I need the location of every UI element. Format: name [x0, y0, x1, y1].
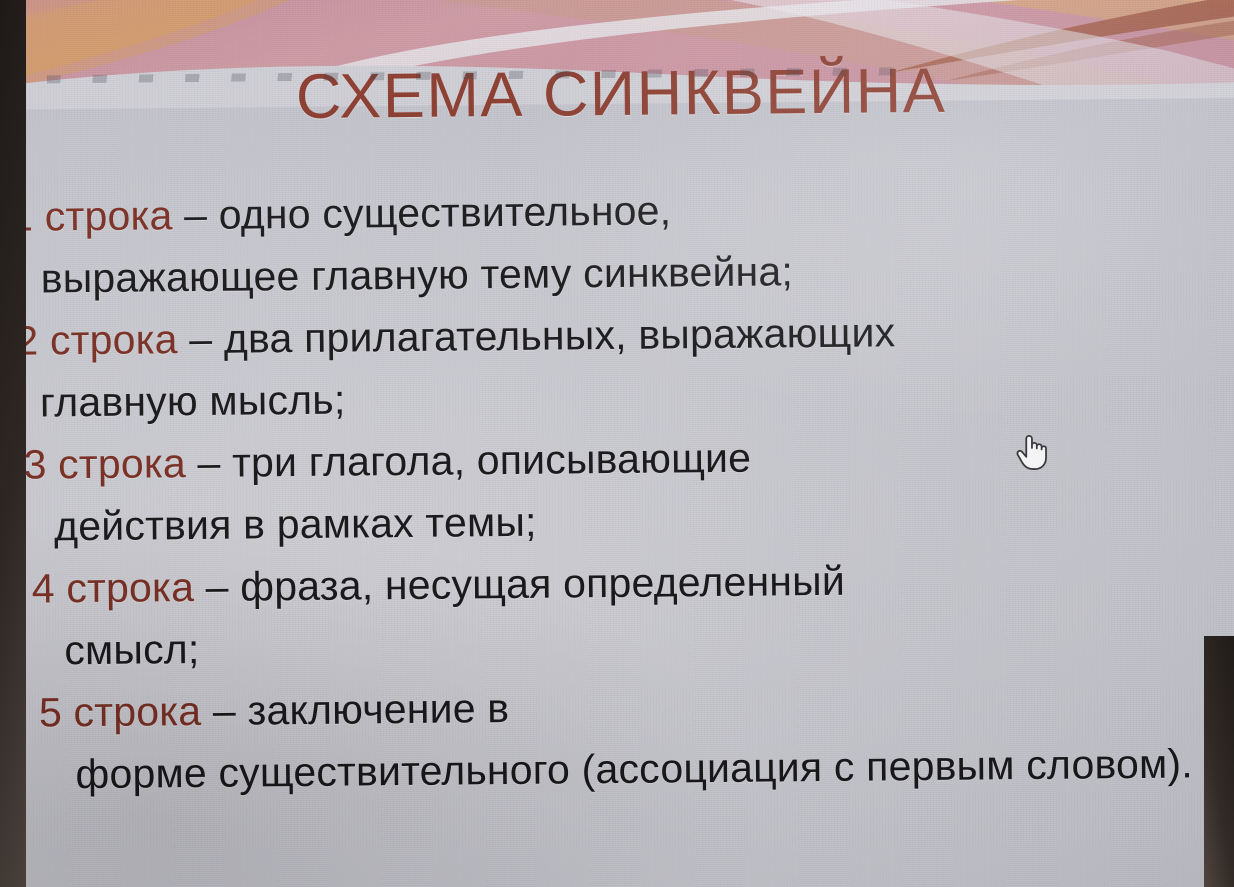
list-item: 5 строка – заключение в форме существите…: [0, 670, 1234, 806]
rule-first-line: – фраза, несущая определенный: [194, 558, 845, 610]
rule-first-line: – три глагола, описывающие: [186, 435, 752, 486]
rule-continuation-line: действия в рамках темы;: [24, 484, 1234, 558]
list-item: 1 строка – одно существительное, выражаю…: [0, 174, 1234, 310]
rule-continuation-line: смысл;: [32, 608, 1234, 682]
list-item: 4 строка – фраза, несущая определенный с…: [0, 546, 1234, 682]
rule-continuation-line: главную мысль;: [16, 360, 1234, 434]
list-item: 2 строка – два прилагательных, выражающи…: [0, 298, 1234, 434]
monitor-bezel-right: [1204, 636, 1234, 887]
cinquain-rules-list: 1 строка – одно существительное, выражаю…: [0, 174, 1234, 806]
rule-lead-label: 2 строка: [15, 316, 178, 364]
rule-first-line: – два прилагательных, выражающих: [177, 309, 895, 362]
rule-first-line: – одно существительное,: [172, 187, 671, 238]
list-item: 3 строка – три глагола, описывающие дейс…: [0, 422, 1234, 558]
rule-lead-label: 4 строка: [32, 564, 195, 612]
rule-first-line: – заключение в: [201, 685, 509, 734]
monitor-photo-frame: СХЕМА СИНКВЕЙНА 1 строка – одно существи…: [0, 0, 1234, 887]
rule-lead-label: 5 строка: [39, 688, 202, 736]
presentation-slide: СХЕМА СИНКВЕЙНА 1 строка – одно существи…: [0, 0, 1234, 887]
page-title: СХЕМА СИНКВЕЙНА: [0, 56, 1234, 132]
rule-lead-label: 3 строка: [23, 440, 186, 488]
rule-lead-label: 1 строка: [10, 192, 173, 240]
monitor-bezel-left: [0, 0, 26, 887]
rule-continuation-line: выражающее главную тему синквейна;: [10, 236, 1234, 310]
rule-continuation-line: форме существительного (ассоциация с пер…: [39, 732, 1234, 806]
